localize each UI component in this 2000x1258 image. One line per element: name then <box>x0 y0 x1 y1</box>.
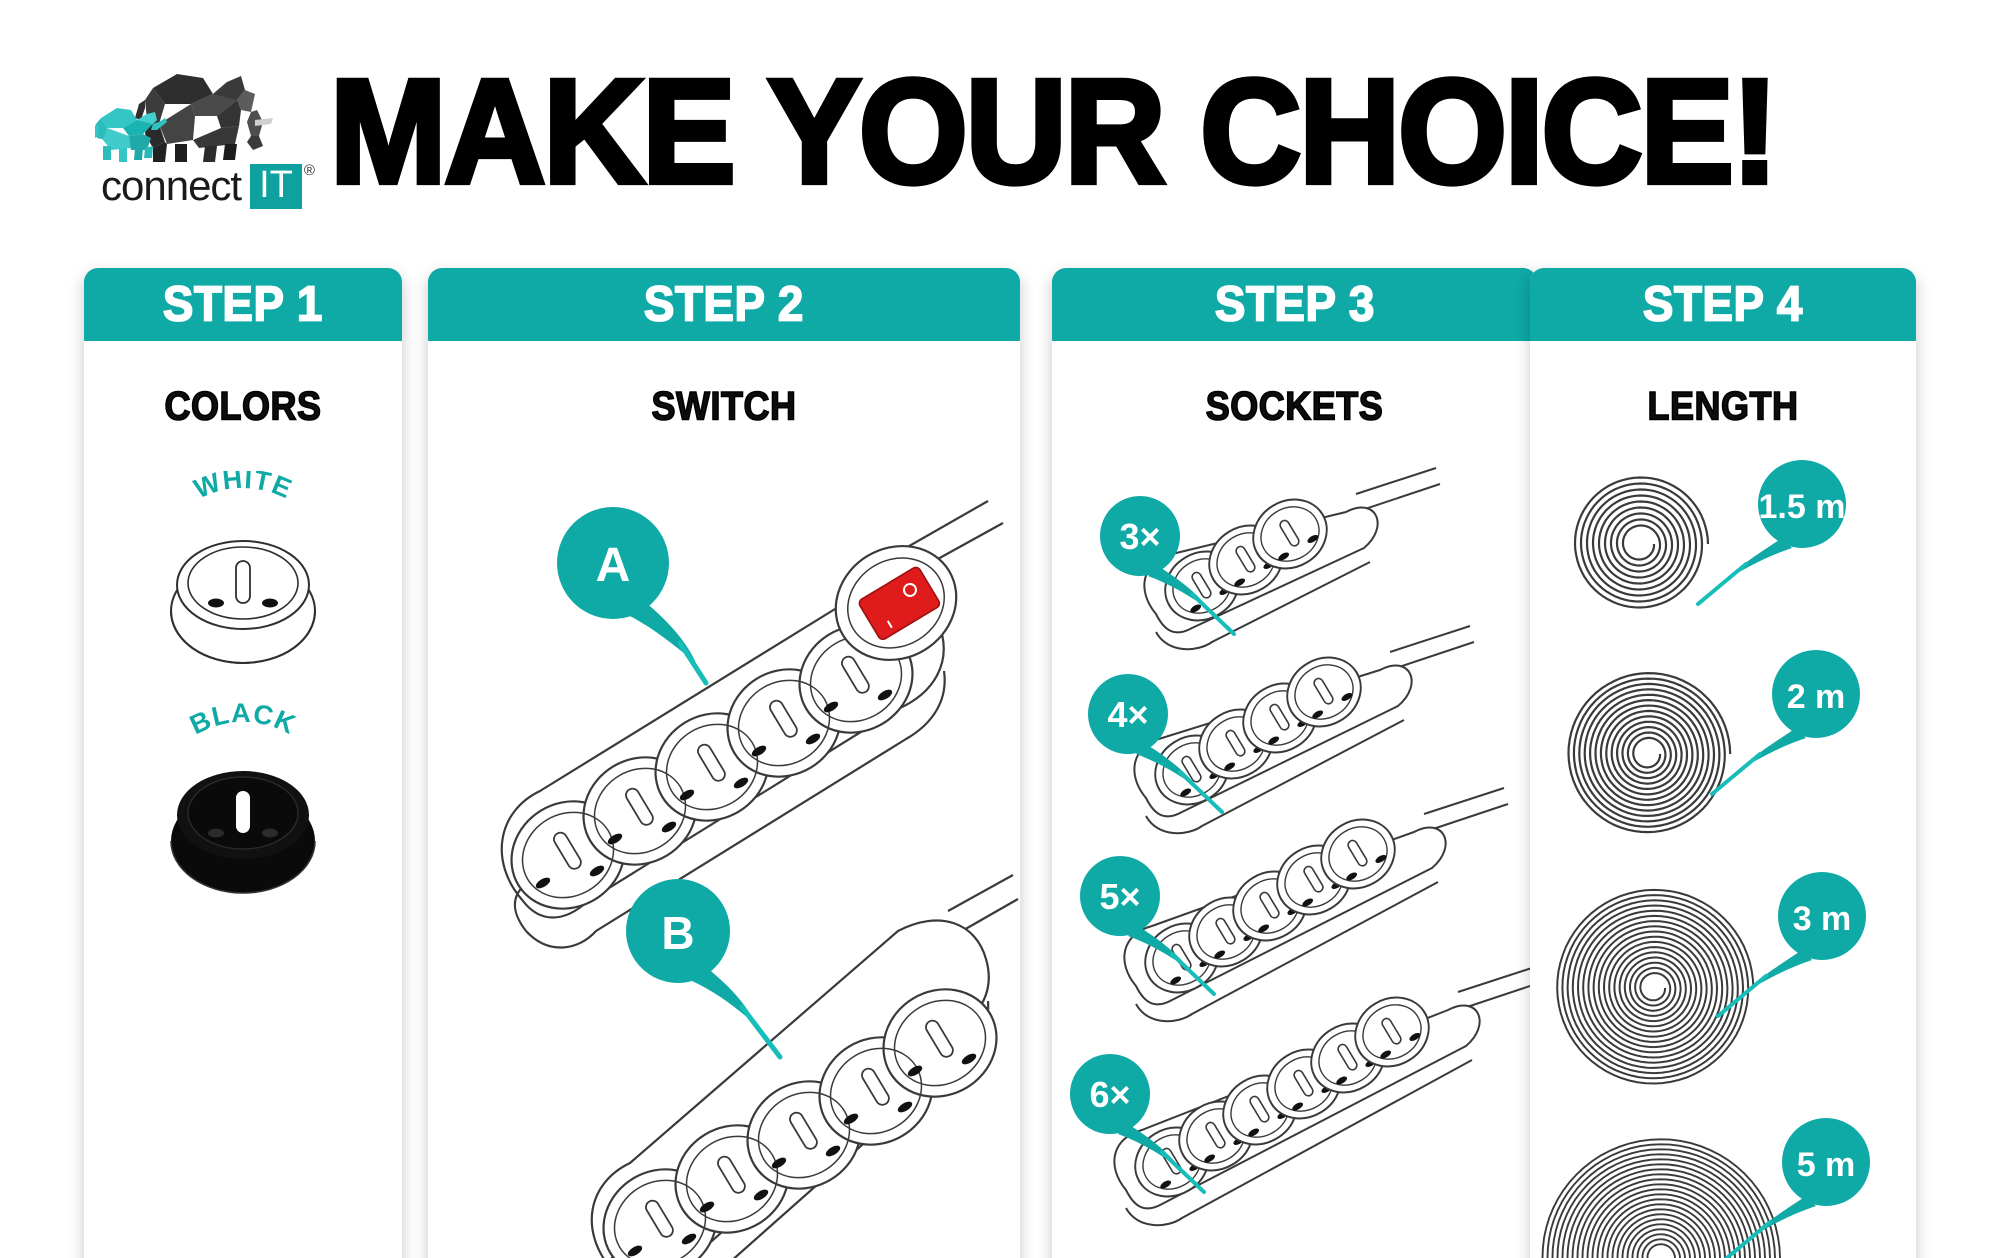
power-strip-option-5x[interactable] <box>1124 788 1508 1021</box>
step-2-illustrations: A <box>428 431 1020 1258</box>
socket-black-icon <box>148 749 338 899</box>
bubble-label: 3 m <box>1793 900 1852 938</box>
option-color-white[interactable]: WHITE <box>128 471 358 669</box>
bubble-B[interactable] <box>626 879 780 1057</box>
step-3-header-label: STEP 3 <box>1215 277 1375 333</box>
brand-logo: connect IT ® <box>95 60 315 210</box>
white-label-arc: WHITE <box>128 471 358 519</box>
bubble-label: 1.5 m <box>1759 488 1846 526</box>
socket-white-icon <box>148 519 338 669</box>
bubble-label: 2 m <box>1787 678 1846 716</box>
brand-connect-text: connect <box>101 162 241 210</box>
svg-text:WHITE: WHITE <box>190 471 297 504</box>
step-3-header: STEP 3 <box>1052 268 1537 341</box>
brand-it-badge: IT <box>250 164 302 209</box>
step-card-2: STEP 2 SWITCH <box>428 268 1020 1258</box>
step-2-header-label: STEP 2 <box>644 277 804 333</box>
bubble-label: 5× <box>1099 876 1140 917</box>
poster-header: connect IT ® MAKE YOUR CHOICE! <box>0 0 2000 250</box>
registered-mark: ® <box>304 162 315 179</box>
bubble-A[interactable] <box>557 507 706 683</box>
step-4-illustrations: 1.5 m2 m3 m5 m <box>1530 436 1916 1258</box>
bubble-label: 5 m <box>1797 1146 1856 1184</box>
power-strip-option-3x[interactable] <box>1144 468 1440 649</box>
page-title: MAKE YOUR CHOICE! <box>330 58 2000 206</box>
bubble-label: 3× <box>1119 516 1160 557</box>
option-color-black[interactable]: BLACK <box>128 701 358 899</box>
coil-option-15m[interactable] <box>1575 478 1708 608</box>
step-4-header: STEP 4 <box>1530 268 1916 341</box>
step-2-body: SWITCH <box>428 341 1020 1258</box>
coil-option-3m[interactable] <box>1557 890 1753 1084</box>
bubble-15m[interactable] <box>1698 460 1846 604</box>
step-card-1: STEP 1 COLORS WHITE <box>84 268 402 1258</box>
bubble-B-label: B <box>661 907 694 959</box>
bubble-3m[interactable] <box>1718 872 1866 1016</box>
step-1-header: STEP 1 <box>84 268 402 341</box>
step-4-body: LENGTH 1.5 m2 m3 m5 m <box>1530 341 1916 1258</box>
bubble-A-label: A <box>596 539 631 592</box>
step-3-illustrations: 3×4×5×6× <box>1052 436 1537 1258</box>
black-label-arc: BLACK <box>128 701 358 749</box>
step-2-header: STEP 2 <box>428 268 1020 341</box>
svg-text:BLACK: BLACK <box>185 701 300 740</box>
bubble-label: 6× <box>1089 1074 1130 1115</box>
step-3-body: SOCKETS 3×4×5×6× <box>1052 341 1537 1258</box>
coil-option-2m[interactable] <box>1569 673 1731 832</box>
step-1-body: COLORS WHITE <box>84 341 402 1258</box>
power-strip-option-6x[interactable] <box>1114 966 1537 1225</box>
step-4-header-label: STEP 4 <box>1643 277 1803 333</box>
two-elephants-logo-icon <box>95 60 315 165</box>
step-card-3: STEP 3 SOCKETS 3×4×5×6× <box>1052 268 1537 1258</box>
step-1-subtitle: COLORS <box>84 337 402 429</box>
step-4-subtitle: LENGTH <box>1530 337 1916 429</box>
poster-root: connect IT ® MAKE YOUR CHOICE! STEP 1 CO… <box>0 0 2000 1258</box>
step-2-subtitle: SWITCH <box>428 337 1020 429</box>
step-3-subtitle: SOCKETS <box>1052 337 1537 429</box>
brand-wordmark: connect IT ® <box>101 162 315 210</box>
step-1-header-label: STEP 1 <box>163 277 323 333</box>
step-card-4: STEP 4 LENGTH 1.5 m2 m3 m5 m <box>1530 268 1916 1258</box>
power-strip-option-4x[interactable] <box>1134 626 1474 833</box>
bubble-2m[interactable] <box>1712 650 1860 794</box>
coil-option-5m[interactable] <box>1543 1139 1781 1258</box>
steps-container: STEP 1 COLORS WHITE <box>0 268 2000 1188</box>
bubble-label: 4× <box>1107 694 1148 735</box>
